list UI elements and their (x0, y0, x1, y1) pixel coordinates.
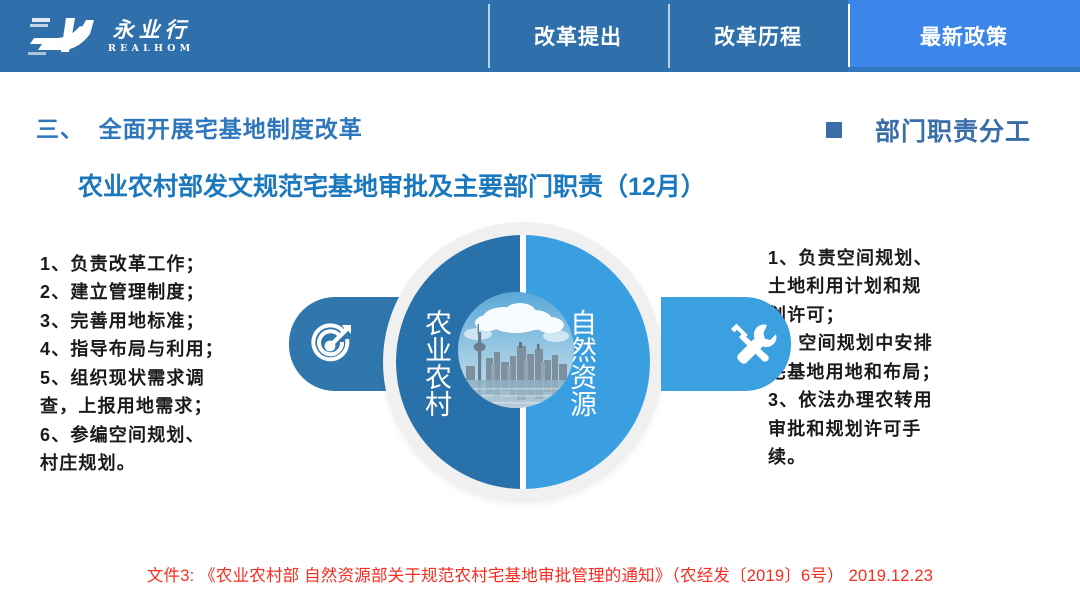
source-note: 文件3: 《农业农村部 自然资源部关于规范农村宅基地审批管理的通知》（农经发〔2… (0, 562, 1080, 586)
brand-wordmark: 永业行 REALHOM (104, 19, 194, 54)
slide-canvas: 永业行 REALHOM 改革提出 改革历程 最新政策 三、 全面开展宅基地制度改… (0, 0, 1080, 608)
active-tab-underline (848, 67, 1080, 72)
brand-name-en: REALHOM (104, 44, 194, 54)
tab-latest-policy[interactable]: 最新政策 (848, 0, 1080, 72)
target-arrow-icon (303, 317, 357, 371)
nav-tabs: 改革提出 改革历程 最新政策 (488, 0, 1080, 72)
tab-divider (848, 4, 850, 68)
city-skyline-photo (458, 292, 574, 408)
right-duties-list: 1、负责空间规划、 土地利用计划和规 划许可； 2、空间规划中安排 宅基地用地和… (768, 244, 1058, 472)
tab-label: 改革历程 (714, 21, 802, 51)
brand-name-cn: 永业行 (108, 19, 191, 40)
tab-reform-history[interactable]: 改革历程 (668, 0, 848, 72)
square-bullet-icon (826, 122, 842, 138)
section-heading: 三、 全面开展宅基地制度改革 (36, 110, 363, 144)
left-duties-list: 1、负责改革工作； 2、建立管理制度； 3、完善用地标准； 4、指导布局与利用；… (40, 250, 310, 478)
hammer-wrench-icon (723, 317, 777, 371)
yy-swoosh-logo-icon (28, 14, 98, 58)
header-bar: 永业行 REALHOM 改革提出 改革历程 最新政策 (0, 0, 1080, 72)
tab-reform-proposal[interactable]: 改革提出 (488, 0, 668, 72)
tab-divider (488, 4, 490, 68)
brand-logo[interactable]: 永业行 REALHOM (28, 10, 218, 62)
right-heading-group: 部门职责分工 (826, 112, 1031, 148)
donut-label-agriculture: 农业农村 (412, 268, 452, 458)
tab-divider (668, 4, 670, 68)
tab-label: 改革提出 (534, 21, 622, 51)
section-subheading: 农业农村部发文规范宅基地审批及主要部门职责（12月） (78, 167, 706, 203)
right-heading-label: 部门职责分工 (875, 112, 1031, 148)
tab-label: 最新政策 (920, 21, 1008, 51)
right-wing-panel (661, 297, 791, 391)
